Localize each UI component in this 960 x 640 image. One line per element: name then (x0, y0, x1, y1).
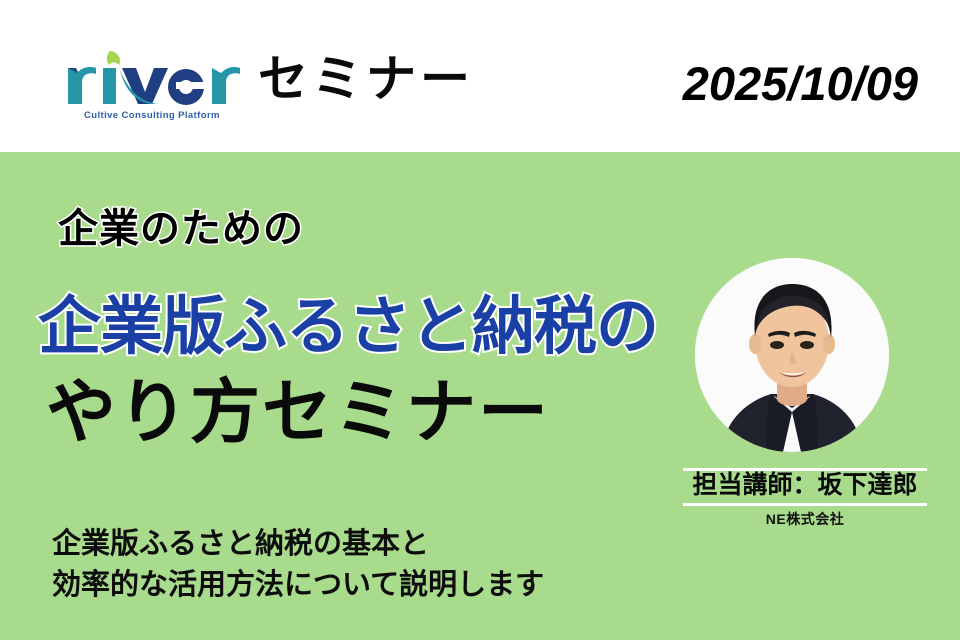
speaker-rule-bottom (683, 503, 927, 506)
speaker-company: NE株式会社 (683, 509, 927, 529)
title-line-1: 企業版ふるさと納税の (38, 276, 658, 367)
poster-header: Cultive Consulting Platform セミナー 2025/10… (0, 0, 960, 152)
lead-line-2: 効率的な活用方法について説明します (52, 565, 544, 606)
lead-line-1: 企業版ふるさと納税の基本と (52, 524, 544, 565)
title-line-2: やり方セミナー (46, 356, 550, 457)
river-logo-icon (62, 48, 242, 110)
lead-description: 企業版ふるさと納税の基本と 効率的な活用方法について説明します (52, 524, 544, 606)
seminar-label: セミナー (258, 54, 474, 104)
speaker-portrait-icon (695, 258, 889, 452)
river-logo: Cultive Consulting Platform (62, 48, 242, 134)
river-wordmark (62, 48, 242, 110)
seminar-poster: Cultive Consulting Platform セミナー 2025/10… (0, 0, 960, 640)
speaker-name: 担当講師：坂下達郎 (683, 468, 927, 503)
logo-tagline: Cultive Consulting Platform (84, 110, 220, 121)
title-eyebrow: 企業のための (58, 196, 304, 254)
speaker-photo (695, 258, 889, 452)
poster-body: 企業のための 企業版ふるさと納税の やり方セミナー 企業版ふるさと納税の基本と … (0, 152, 960, 640)
event-date: 2025/10/09 (683, 56, 918, 111)
